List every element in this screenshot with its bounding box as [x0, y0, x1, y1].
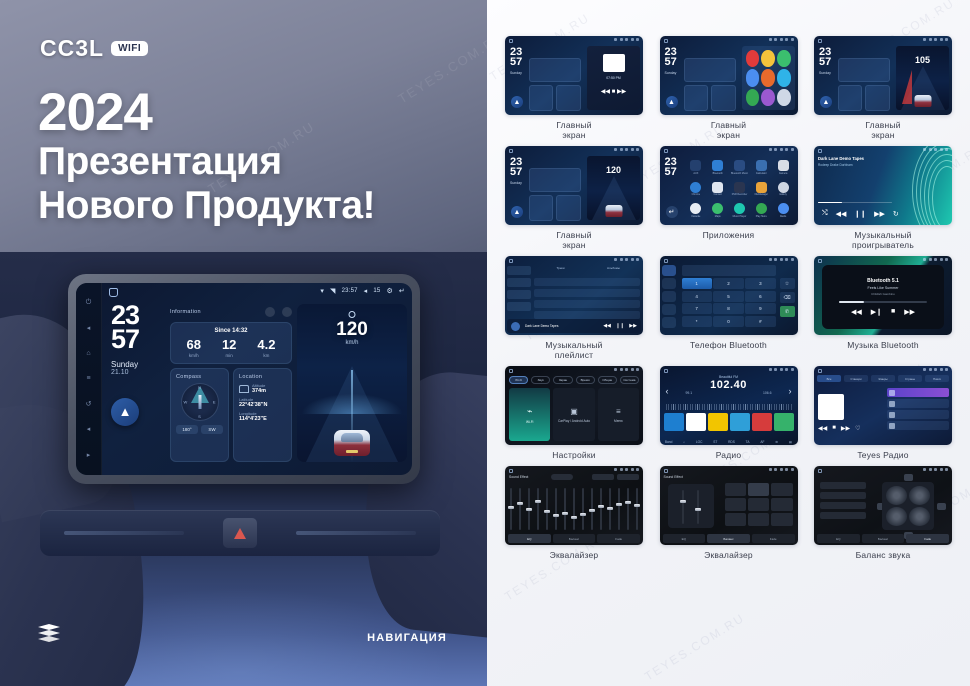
key-6[interactable]: 6 [745, 291, 775, 302]
home-icon [818, 149, 822, 153]
key-9[interactable]: 9 [745, 303, 775, 314]
grid-item[interactable]: 23 57 ↵ AUX Bluetooth Bluetooth Music Ca… [660, 146, 798, 250]
key-volume-down-icon[interactable]: ◂ [87, 426, 91, 433]
tab-eq[interactable]: EQ [508, 534, 551, 543]
screen-thumbnail[interactable]: Dark Lane Demo Tapes Rodeep Drake Dorbha… [814, 146, 952, 225]
eq-fader[interactable] [528, 488, 530, 530]
settings-icon[interactable]: ⚙ [775, 440, 778, 444]
next-icon[interactable]: ▶▶ [904, 308, 915, 316]
preset-button[interactable] [748, 498, 769, 511]
playlist-tabs[interactable]: Треки Альбомы [534, 266, 640, 273]
eq-fader[interactable] [682, 490, 684, 524]
volume-icon: ◂ [364, 287, 368, 295]
eq-dual-faders[interactable] [668, 484, 714, 528]
next-station-icon[interactable]: › [789, 386, 792, 396]
preset-2[interactable] [686, 413, 706, 431]
preset-row[interactable] [820, 512, 866, 519]
eq-bottom-tabs[interactable]: EQ Баланс Fade [508, 534, 640, 543]
tab-system[interactable]: Система [620, 376, 639, 384]
screen-thumbnail[interactable]: 23 57 Sunday ▲ 07:50 PM ◀◀ ■ ▶▶ [505, 36, 643, 115]
key-4[interactable]: 4 [682, 291, 712, 302]
mini-status-bar [769, 468, 794, 471]
stop-icon[interactable]: ■ [891, 308, 895, 316]
mini-status-bar [769, 258, 794, 261]
thumbnail-caption: Главный экран [711, 120, 746, 140]
back-arrow-icon[interactable]: ↵ [399, 287, 405, 295]
settings-card-wifi[interactable]: ⌁ Wi-Fi [509, 388, 550, 441]
tab-stations[interactable]: Станции [844, 375, 868, 382]
screen-thumbnail[interactable]: 1 2 3 4 5 6 7 8 9 * 0 # [660, 256, 798, 335]
home-icon [509, 39, 513, 43]
now-playing-title: Dark Lane Demo Tapes [525, 324, 598, 328]
mini-status-bar [614, 468, 639, 471]
mini-info-card [684, 58, 736, 82]
key-3[interactable]: 3 [745, 278, 775, 289]
grid-row: Wi-Fi Звук Экран Время Общие Система ⌁ W… [505, 366, 952, 460]
title-year: 2024 [38, 86, 375, 140]
trip-stats: 68 km/h 12 min 4.2 [176, 338, 286, 358]
band-icon[interactable]: Band [665, 440, 672, 444]
app-icon-gallery[interactable]: Gallery [778, 182, 789, 197]
station-row[interactable] [887, 399, 949, 408]
screen-thumbnail[interactable]: Bluetooth 5.1 Feels Like Summer Childish… [814, 256, 952, 335]
app-grid[interactable]: AUX Bluetooth Bluetooth Music Calculator… [686, 157, 794, 221]
rds-icon[interactable]: RDS [728, 440, 735, 444]
clock-date: 21.10 [111, 369, 165, 376]
screen-thumbnail[interactable]: Beautiful FM 102.40 ‹ › 99.1 106.6 [660, 366, 798, 445]
stat-item: 4.2 km [257, 338, 275, 358]
tab-time[interactable]: Время [576, 376, 595, 384]
eq-fader[interactable] [627, 488, 629, 530]
eq-fader[interactable] [546, 488, 548, 530]
information-widget[interactable]: Information Since 14:32 [170, 304, 292, 364]
tab-general[interactable]: Общие [598, 376, 617, 384]
stat-item: 68 km/h [186, 338, 200, 358]
teyes-radio-tabs[interactable]: Все Станции Жанры Страны Поиск [817, 375, 949, 382]
sidebar-recents-icon[interactable] [662, 304, 676, 315]
navigation-arrow-icon: ▲ [820, 96, 832, 108]
grid-item[interactable]: Beautiful FM 102.40 ‹ › 99.1 106.6 [660, 366, 798, 460]
grid-item[interactable]: 23 57 Sunday ▲ 105 Главный [814, 36, 952, 140]
track-row[interactable] [534, 278, 640, 286]
next-icon[interactable]: ▶▶ [874, 210, 885, 218]
mini-clock: 23 57 Sunday [510, 158, 522, 185]
radio-prev-freq: 99.1 [686, 391, 693, 395]
sidebar-contacts-icon[interactable] [662, 278, 676, 289]
app-icon-karaoke[interactable]: Karaoke [690, 203, 701, 218]
speaker-balance-pad[interactable] [882, 482, 934, 530]
grid-item[interactable]: EQ Баланс Fade Баланс звука [814, 466, 952, 560]
mini-info-card [529, 58, 581, 82]
screen-thumbnail[interactable]: Треки Альбомы Dark Lane Demo Tapes ◀◀ ❙❙… [505, 256, 643, 335]
previous-icon[interactable]: ◀◀ [851, 308, 862, 316]
bt-playback-controls[interactable]: ◀◀ ▶❙ ■ ▶▶ [851, 308, 915, 316]
favorite-icon[interactable]: ♡ [855, 425, 860, 432]
grid-item[interactable]: Все Станции Жанры Страны Поиск ◀◀ ■ ▶▶ ♡ [814, 366, 952, 460]
mini-app-shortcuts [742, 46, 795, 110]
tab-eq[interactable]: EQ [817, 534, 860, 543]
pause-icon[interactable]: ❙❙ [854, 210, 866, 218]
mini-status-bar [614, 148, 639, 151]
mini-clock-day: Sunday [510, 71, 522, 75]
app-icon-contact[interactable]: Contact [712, 182, 723, 197]
bt-player-card: Bluetooth 5.1 Feels Like Summer Childish… [822, 265, 944, 329]
grid-item[interactable]: Sound Effect [660, 466, 798, 560]
key-hash[interactable]: # [745, 316, 775, 327]
home-icon [818, 469, 822, 473]
shuffle-icon[interactable]: ⤭ [822, 210, 828, 218]
key-menu-icon[interactable]: ≡ [86, 375, 90, 382]
settings-card-carplay[interactable]: ▣ CarPlay / Android Auto [553, 388, 594, 441]
speed-icon [349, 311, 356, 318]
call-icon[interactable]: ✆ [780, 306, 795, 317]
track-title: Dark Lane Demo Tapes [818, 156, 894, 161]
clock-minutes: 57 [111, 328, 165, 352]
hazard-triangle-icon [234, 528, 246, 539]
key-1[interactable]: 1 [682, 278, 712, 289]
stereo-icon[interactable]: ST [713, 440, 717, 444]
app-icon-radio[interactable]: Radio [778, 203, 789, 218]
search-icon[interactable]: ⌕ [683, 440, 685, 444]
dashboard-vent-bar [40, 510, 440, 556]
eq-fader[interactable] [609, 488, 611, 530]
preset-button[interactable] [725, 483, 746, 496]
tab-balance[interactable]: Баланс [553, 534, 596, 543]
grid-item[interactable]: 23 57 Sunday ▲ 120 Главный экран [505, 146, 643, 250]
head-unit-ui: ▾ ◥ 23:57 ◂ 15 ⚙ ↵ 23 57 Sunday 21. [102, 283, 412, 475]
tab-all[interactable]: Треки [534, 266, 587, 273]
widgets-column: Information Since 14:32 [170, 304, 292, 462]
tab-balance[interactable]: Баланс [707, 534, 750, 543]
eq-fader[interactable] [591, 488, 593, 530]
screenshot-grid-panel: TEYES.COM.RU TEYES.COM.RU TEYES.COM.RU T… [487, 0, 970, 686]
key-2[interactable]: 2 [713, 278, 743, 289]
mini-music-card: 07:50 PM ◀◀ ■ ▶▶ [587, 46, 640, 110]
car-3d-model [332, 416, 372, 456]
preset-button[interactable] [771, 513, 792, 526]
mini-speed-value: 105 [896, 55, 949, 65]
compass-label: Compass [176, 374, 223, 380]
grid-row: 23 57 Sunday ▲ 120 Главный экран [505, 146, 952, 250]
app-icon-bluetooth[interactable]: Bluetooth [712, 160, 723, 175]
trip-since: Since 14:32 [176, 328, 286, 334]
eq-fader[interactable] [636, 488, 638, 530]
screen-thumbnail[interactable]: 23 57 Sunday ▲ [660, 36, 798, 115]
sidebar-keypad-icon[interactable] [662, 265, 676, 276]
sidebar-item[interactable] [507, 278, 531, 287]
mini-status-bar [769, 368, 794, 371]
next-icon[interactable]: ▶▶ [629, 323, 637, 329]
navigation-arrow-icon: ▲ [511, 96, 523, 108]
tab-balance[interactable]: Баланс [862, 534, 905, 543]
mini-location-card [865, 85, 890, 111]
grid-item[interactable]: 1 2 3 4 5 6 7 8 9 * 0 # [660, 256, 798, 360]
key-7[interactable]: 7 [682, 303, 712, 314]
track-row[interactable] [534, 300, 640, 308]
home-icon [509, 469, 513, 473]
screen-thumbnail[interactable]: Sound Effect [660, 466, 798, 545]
app-icon-filemanager[interactable]: FileManager [755, 182, 768, 197]
app-icon-chrome[interactable]: Chrome [690, 182, 701, 197]
mini-compass-card [838, 85, 862, 111]
eq-preset-grid[interactable] [725, 483, 793, 526]
car-plate [346, 450, 358, 453]
preset-button[interactable] [725, 513, 746, 526]
screen-thumbnail[interactable]: 23 57 ↵ AUX Bluetooth Bluetooth Music Ca… [660, 146, 798, 225]
grid-item[interactable]: Wi-Fi Звук Экран Время Общие Система ⌁ W… [505, 366, 643, 460]
thumbnail-caption: Музыка Bluetooth [847, 340, 919, 350]
eq-fader[interactable] [564, 488, 566, 530]
grid-item[interactable]: Dark Lane Demo Tapes Rodeep Drake Dorbha… [814, 146, 952, 250]
compass-s: S [198, 414, 201, 419]
preset-row[interactable] [820, 492, 866, 499]
tab-sound[interactable]: Звук [531, 376, 550, 384]
compass-widget[interactable]: Compass N S E W [170, 368, 229, 462]
grid-item[interactable]: Sound Effect [505, 466, 643, 560]
previous-icon[interactable]: ◀◀ [818, 425, 827, 432]
altitude-icon [239, 385, 249, 393]
thumbnail-caption: Баланс звука [856, 550, 911, 560]
key-0[interactable]: 0 [713, 316, 743, 327]
head-unit-screen[interactable]: ⏻ ◂ ⌂ ≡ ↺ ◂ ▸ ▾ ◥ 23:57 ◂ 15 [76, 283, 412, 475]
play-pause-icon[interactable]: ▶❙ [871, 308, 882, 316]
previous-icon[interactable]: ◀◀ [836, 210, 847, 218]
app-icon-bluetooth-music[interactable]: Bluetooth Music [731, 160, 748, 175]
refresh-icon[interactable] [265, 307, 275, 317]
previous-icon[interactable]: ◀◀ [603, 323, 611, 329]
tab-display[interactable]: Экран [553, 376, 572, 384]
sidebar-search-icon[interactable] [662, 291, 676, 302]
app-icon-dvr[interactable]: DVR Recorder [732, 182, 748, 197]
balance-presets[interactable] [820, 482, 866, 522]
wifi-badge: WIFI [111, 41, 148, 56]
compass-dial: N S E W [181, 383, 219, 421]
app-icon-music-player[interactable]: Music Player [733, 203, 747, 218]
mini-status-bar [614, 38, 639, 41]
eq-bottom-tabs[interactable]: EQ Баланс Fade [663, 534, 795, 543]
sidebar-item[interactable] [507, 266, 531, 275]
eq-preset[interactable] [592, 474, 614, 480]
balance-right-button[interactable] [937, 503, 946, 510]
stop-icon[interactable]: ■ [832, 425, 836, 432]
preset-button[interactable] [748, 483, 769, 496]
thumbnail-caption: Музыкальный проигрыватель [852, 230, 914, 250]
eq-fader[interactable] [510, 488, 512, 530]
station-row[interactable] [887, 421, 949, 430]
mini-compass-card [529, 85, 553, 111]
side-key-strip[interactable]: ⏻ ◂ ⌂ ≡ ↺ ◂ ▸ [76, 283, 102, 475]
prev-station-icon[interactable]: ‹ [666, 386, 669, 396]
repeat-icon[interactable]: ↻ [893, 210, 899, 218]
dialer-area[interactable]: 1 2 3 4 5 6 7 8 9 * 0 # [682, 265, 776, 327]
back-arrow-icon: ↵ [666, 206, 678, 218]
tab-fade[interactable]: Fade [597, 534, 640, 543]
car-glass [341, 433, 363, 442]
thumbnail-caption: Эквалайзер [704, 550, 753, 560]
key-5[interactable]: 5 [713, 291, 743, 302]
clock-widget[interactable]: 23 57 Sunday 21.10 ▲ [108, 304, 165, 462]
bt-track-artist: Childish Gambino [871, 292, 895, 296]
preset-6[interactable] [774, 413, 794, 431]
eq-fader[interactable] [519, 488, 521, 530]
mini-clock-minutes: 57 [510, 58, 522, 68]
settings-cards[interactable]: ⌁ Wi-Fi ▣ CarPlay / Android Auto ≡ Меню [509, 388, 639, 441]
expand-icon[interactable] [282, 307, 292, 317]
preset-3[interactable] [708, 413, 728, 431]
grid-item[interactable]: 23 57 Sunday ▲ [660, 36, 798, 140]
preset-4[interactable] [730, 413, 750, 431]
location-widget[interactable]: Location Altitude 374m [233, 368, 292, 462]
preset-button[interactable] [771, 498, 792, 511]
loc-icon[interactable]: LOC [696, 440, 703, 444]
phone-sidebar[interactable] [662, 265, 680, 330]
pause-icon[interactable]: ❙❙ [616, 323, 624, 329]
progress-bar[interactable] [818, 202, 892, 204]
key-star[interactable]: * [682, 316, 712, 327]
gear-icon[interactable]: ⚙ [386, 287, 392, 295]
af-icon[interactable]: AF [760, 440, 764, 444]
speaker-rear-right [909, 507, 930, 526]
screen-thumbnail[interactable]: 23 57 Sunday ▲ 120 [505, 146, 643, 225]
screen-thumbnail[interactable]: Wi-Fi Звук Экран Время Общие Система ⌁ W… [505, 366, 643, 445]
grid-item[interactable]: Bluetooth 5.1 Feels Like Summer Childish… [814, 256, 952, 360]
app-icon-aux[interactable]: AUX [690, 160, 701, 175]
playback-controls[interactable]: ⤭ ◀◀ ❙❙ ▶▶ ↻ [822, 210, 899, 218]
eq-preset-chips[interactable] [592, 474, 639, 480]
station-row[interactable] [887, 388, 949, 397]
audio-wave-visual [906, 146, 952, 225]
thumbnail-caption: Настройки [552, 450, 595, 460]
radio-bottom-bar[interactable]: Band ⌕ LOC ST RDS TA AF ⚙ ▤ [660, 440, 798, 444]
preset-row[interactable] [820, 502, 866, 509]
tab-genres[interactable]: Жанры [871, 375, 895, 382]
eq-faders[interactable] [510, 484, 638, 530]
app-icon-play-store[interactable]: Play Store [756, 203, 767, 218]
ta-icon[interactable]: TA [746, 440, 750, 444]
eq-fader[interactable] [618, 488, 620, 530]
navigation-arrow-icon[interactable]: ▲ [111, 398, 139, 426]
list-icon[interactable]: ▤ [789, 440, 792, 444]
radio-next-freq: 106.6 [763, 391, 772, 395]
information-label: Information [170, 309, 201, 315]
settings-card-menu[interactable]: ≡ Меню [598, 388, 639, 441]
screen-thumbnail[interactable]: EQ Баланс Fade [814, 466, 952, 545]
tab-all[interactable]: Все [817, 375, 841, 382]
preset-row[interactable] [820, 482, 866, 489]
eq-title: Sound Effect [664, 475, 683, 479]
tab-wifi[interactable]: Wi-Fi [509, 376, 528, 384]
keypad[interactable]: 1 2 3 4 5 6 7 8 9 * 0 # [682, 278, 776, 327]
preset-5[interactable] [752, 413, 772, 431]
station-artwork [818, 394, 844, 420]
screen-thumbnail[interactable]: Sound Effect [505, 466, 643, 545]
compass-direction: SW [201, 425, 223, 434]
station-list[interactable] [887, 388, 949, 432]
key-mute-icon[interactable]: ◂ [87, 325, 91, 332]
track-artist: Rodeep Drake Dorbham [818, 163, 894, 167]
eq-bottom-tabs[interactable]: EQ Баланс Fade [817, 534, 949, 543]
sidebar-settings-icon[interactable] [662, 317, 676, 328]
screen-thumbnail[interactable]: Все Станции Жанры Страны Поиск ◀◀ ■ ▶▶ ♡ [814, 366, 952, 445]
radio-presets[interactable] [664, 413, 794, 431]
next-icon[interactable]: ▶▶ [841, 425, 850, 432]
eq-fader[interactable] [582, 488, 584, 530]
key-volume-up-icon[interactable]: ▸ [87, 452, 91, 459]
key-power-icon[interactable]: ⏻ [86, 299, 92, 306]
preset-button[interactable] [748, 513, 769, 526]
bt-progress-bar[interactable] [839, 301, 927, 302]
eq-preset-toggle[interactable] [551, 474, 573, 480]
dialer-actions[interactable]: ☆ ⌫ ✆ [780, 278, 795, 320]
mini-compass-card [684, 85, 708, 111]
mini-location-card [556, 85, 581, 111]
eq-preset[interactable] [617, 474, 639, 480]
speaker-front-left [886, 486, 907, 505]
stat-unit: min [222, 353, 236, 358]
backspace-icon[interactable]: ⌫ [780, 292, 795, 303]
sidebar-item[interactable] [507, 290, 531, 299]
eq-fader[interactable] [600, 488, 602, 530]
sidebar-item[interactable] [507, 302, 531, 311]
track-row[interactable] [534, 311, 640, 319]
tab-fade[interactable]: Fade [906, 534, 949, 543]
tab-eq[interactable]: EQ [663, 534, 706, 543]
compass-degrees: 180° [176, 425, 198, 434]
tab-countries[interactable]: Страны [898, 375, 922, 382]
home-icon[interactable] [109, 288, 118, 297]
title-line-1: Презентация [38, 140, 375, 184]
key-home-icon[interactable]: ⌂ [86, 350, 90, 357]
latitude-value: 22°42'38"N [239, 402, 286, 408]
frequency-scale[interactable] [666, 404, 792, 410]
app-icon-camera[interactable]: Camera [778, 160, 789, 175]
station-row[interactable] [887, 410, 949, 419]
eq-fader[interactable] [697, 490, 699, 524]
mini-status-bar [614, 258, 639, 261]
grid-item[interactable]: Треки Альбомы Dark Lane Demo Tapes ◀◀ ❙❙… [505, 256, 643, 360]
eq-fader[interactable] [573, 488, 575, 530]
tab-albums[interactable]: Альбомы [587, 266, 640, 273]
home-icon [818, 39, 822, 43]
home-icon [664, 149, 668, 153]
track-row[interactable] [534, 289, 640, 297]
screen-thumbnail[interactable]: 23 57 Sunday ▲ 105 [814, 36, 952, 115]
tab-fade[interactable]: Fade [752, 534, 795, 543]
preset-1[interactable] [664, 413, 684, 431]
preset-button[interactable] [725, 498, 746, 511]
location-label: Location [239, 374, 286, 380]
mini-player-bar[interactable]: Dark Lane Demo Tapes ◀◀ ❙❙ ▶▶ [507, 319, 641, 333]
favorite-icon[interactable]: ☆ [780, 278, 795, 289]
lower-widgets-row: Compass N S E W [170, 368, 292, 462]
preset-button[interactable] [771, 483, 792, 496]
app-icon-maps[interactable]: Maps [712, 203, 723, 218]
settings-tabs[interactable]: Wi-Fi Звук Экран Время Общие Система [509, 376, 639, 384]
status-time: 23:57 [342, 288, 358, 294]
eq-fader[interactable] [537, 488, 539, 530]
tab-search[interactable]: Поиск [925, 375, 949, 382]
drive-view-widget[interactable]: 120 km/h [297, 304, 407, 462]
mini-speed-value: 120 [587, 165, 640, 175]
balance-up-button[interactable] [904, 474, 913, 481]
grid-item[interactable]: 23 57 Sunday ▲ 07:50 PM ◀◀ ■ ▶▶ Главный … [505, 36, 643, 140]
hazard-button[interactable] [223, 518, 257, 548]
app-icon-calculator[interactable]: Calculator [756, 160, 767, 175]
key-back-icon[interactable]: ↺ [86, 401, 92, 408]
eq-fader[interactable] [555, 488, 557, 530]
key-8[interactable]: 8 [713, 303, 743, 314]
playlist-sidebar[interactable] [507, 266, 531, 314]
